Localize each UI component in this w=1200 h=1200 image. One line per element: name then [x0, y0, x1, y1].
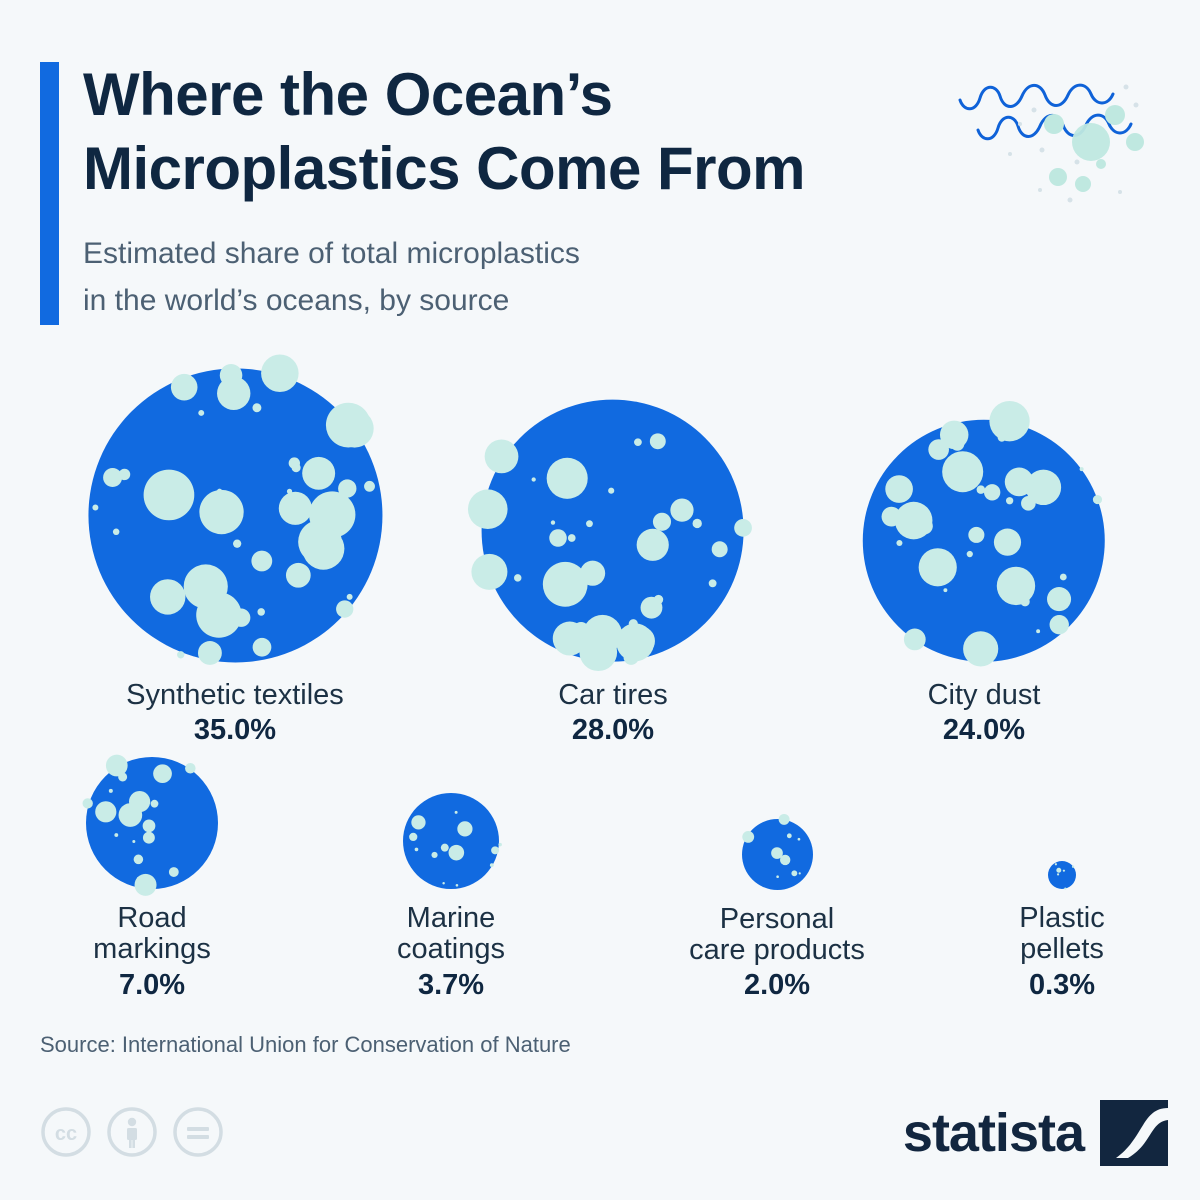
bubble-label-block: Car tires28.0% [558, 680, 668, 749]
statista-mark-icon [1098, 1098, 1170, 1168]
page-title-line-1: Where the Ocean’s [83, 58, 983, 132]
title-accent-bar [40, 62, 59, 325]
wave-bubbles-decoration [950, 72, 1190, 232]
page-subtitle: Estimated share of total microplastics i… [83, 231, 843, 324]
bubble-category-name-line2: pellets [1019, 934, 1104, 965]
bubble-value: 24.0% [928, 713, 1041, 748]
bubble-category-name: Personal [689, 904, 865, 935]
bubble-category-name-line2: care products [689, 935, 865, 966]
bubble-label-block: Plasticpellets0.3% [1019, 903, 1104, 1003]
bubble-circle [841, 398, 1127, 684]
page-title: Where the Ocean’s Microplastics Come Fro… [83, 58, 983, 207]
bubble-category-name: Car tires [558, 680, 668, 711]
bubble-value: 0.3% [1019, 968, 1104, 1003]
bubble-label-block: Marinecoatings3.7% [397, 903, 505, 1003]
cc-by-person-icon[interactable] [106, 1106, 158, 1158]
bubble-label-block: City dust24.0% [928, 680, 1041, 749]
bubble-city-dust: City dust24.0% [841, 398, 1127, 684]
bubble-road-markings: Roadmarkings7.0% [74, 745, 230, 901]
svg-text:cc: cc [55, 1123, 77, 1145]
bubble-car-tires: Car tires28.0% [458, 376, 767, 685]
bubble-circle [391, 781, 511, 901]
page-title-line-2: Microplastics Come From [83, 132, 983, 206]
source-note: Source: International Union for Conserva… [40, 1032, 571, 1058]
page-subtitle-line-1: Estimated share of total microplastics [83, 231, 843, 278]
bubble-category-name: Plastic [1019, 903, 1104, 934]
bubble-circle [62, 342, 409, 689]
bubble-plastic-pellets: Plasticpellets0.3% [1036, 849, 1088, 901]
bubble-circle [74, 745, 230, 901]
bubble-chart: Synthetic textiles35.0%Car tires28.0%Cit… [0, 330, 1200, 1020]
bubble-marine-coatings: Marinecoatings3.7% [391, 781, 511, 901]
bubble-category-name-line2: coatings [397, 934, 505, 965]
wave-icon [950, 72, 1190, 232]
bubble-category-name-line2: markings [93, 934, 211, 965]
bubble-circle [458, 376, 767, 685]
bubble-value: 7.0% [93, 968, 211, 1003]
cc-icon[interactable]: cc [40, 1106, 92, 1158]
statista-logo: statista [903, 1098, 1170, 1168]
bubble-value: 35.0% [126, 713, 344, 748]
bubble-value: 2.0% [689, 968, 865, 1003]
bubble-circle [1036, 849, 1088, 901]
bubble-value: 3.7% [397, 968, 505, 1003]
bubble-category-name: Synthetic textiles [126, 680, 344, 711]
cc-nd-equals-icon[interactable] [172, 1106, 224, 1158]
creative-commons-badges: cc [40, 1106, 224, 1158]
bubble-category-name: Road [93, 903, 211, 934]
bubble-value: 28.0% [558, 713, 668, 748]
bubble-label-block: Roadmarkings7.0% [93, 903, 211, 1003]
bubble-personal-care-products: Personalcare products2.0% [730, 807, 825, 902]
bubble-category-name: Marine [397, 903, 505, 934]
page-subtitle-line-2: in the world’s oceans, by source [83, 278, 843, 325]
bubble-category-name: City dust [928, 680, 1041, 711]
bubble-label-block: Synthetic textiles35.0% [126, 680, 344, 749]
bubble-circle [730, 807, 825, 902]
bubble-label-block: Personalcare products2.0% [689, 904, 865, 1004]
statista-wordmark: statista [903, 1106, 1084, 1160]
bubble-synthetic-textiles: Synthetic textiles35.0% [62, 342, 409, 689]
